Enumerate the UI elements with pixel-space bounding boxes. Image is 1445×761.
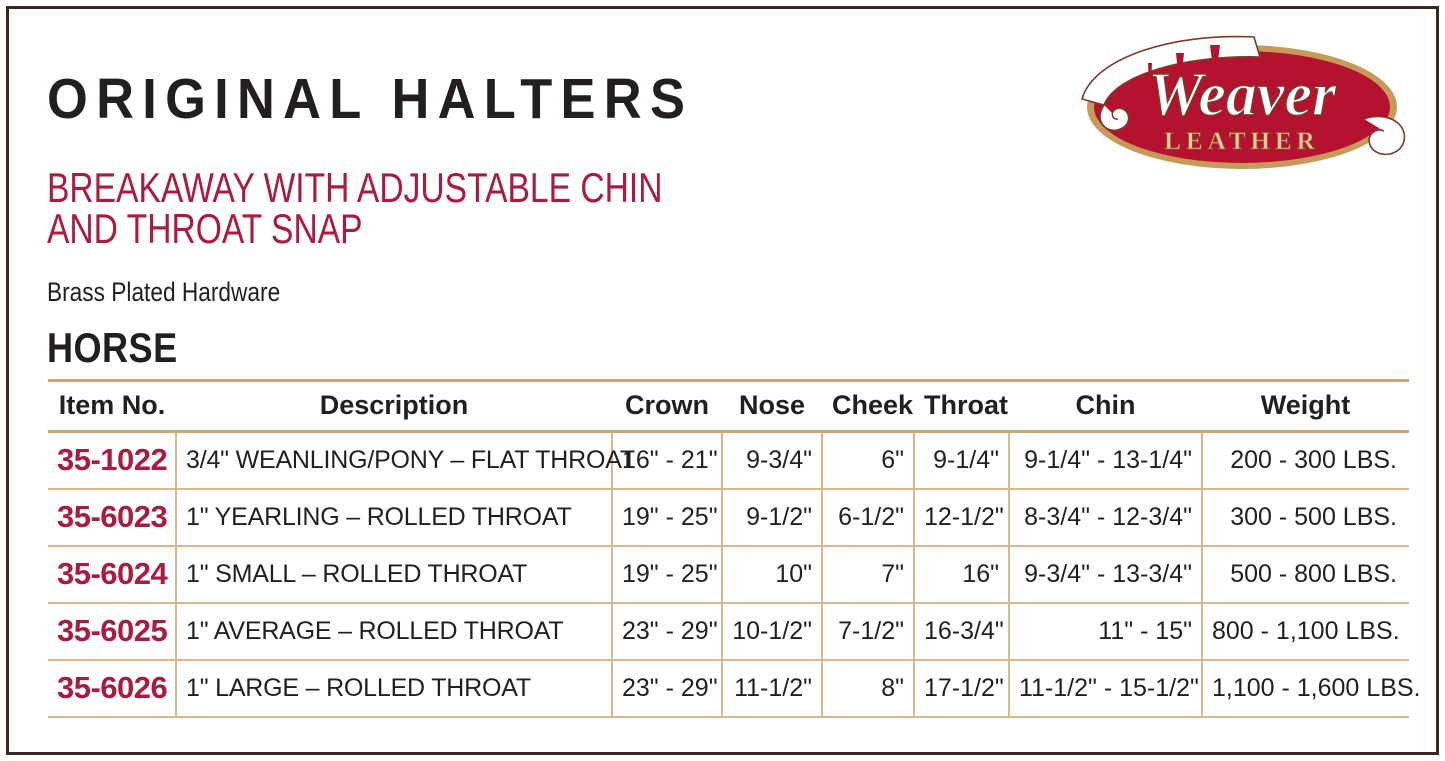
spec-table-container: Item No. Description Crown Nose Cheek Th… [48, 379, 1409, 718]
category-heading: HORSE [47, 324, 178, 372]
cell-description: 1" YEARLING – ROLLED THROAT [176, 489, 612, 546]
cell-description: 1" AVERAGE – ROLLED THROAT [176, 603, 612, 660]
cell-nose: 11-1/2" [722, 660, 822, 717]
cell-cheek: 6-1/2" [822, 489, 914, 546]
cell-nose: 9-3/4" [722, 432, 822, 489]
cell-crown: 19" - 25" [612, 546, 722, 603]
table-head: Item No. Description Crown Nose Cheek Th… [48, 381, 1409, 432]
page-inner: ORIGINAL HALTERS BREAKAWAY WITH ADJUSTAB… [9, 9, 1442, 758]
cell-chin: 11-1/2" - 15-1/2" [1009, 660, 1202, 717]
table-row: 35-6026 1" LARGE – ROLLED THROAT 23" - 2… [48, 660, 1409, 717]
cell-nose: 9-1/2" [722, 489, 822, 546]
table-row: 35-6024 1" SMALL – ROLLED THROAT 19" - 2… [48, 546, 1409, 603]
hardware-note: Brass Plated Hardware [47, 277, 280, 308]
halter-spec-table: Item No. Description Crown Nose Cheek Th… [48, 379, 1409, 718]
table-row: 35-6023 1" YEARLING – ROLLED THROAT 19" … [48, 489, 1409, 546]
cell-item-no: 35-6024 [48, 546, 176, 603]
table-header-row: Item No. Description Crown Nose Cheek Th… [48, 381, 1409, 432]
page-title: ORIGINAL HALTERS [47, 71, 693, 128]
cell-crown: 23" - 29" [612, 603, 722, 660]
column-header-item-no: Item No. [48, 381, 176, 432]
cell-item-no: 35-6025 [48, 603, 176, 660]
cell-weight: 300 - 500 LBS. [1202, 489, 1409, 546]
column-header-weight: Weight [1202, 381, 1409, 432]
cell-crown: 23" - 29" [612, 660, 722, 717]
cell-cheek: 6" [822, 432, 914, 489]
page-subtitle: BREAKAWAY WITH ADJUSTABLE CHIN AND THROA… [47, 167, 751, 249]
cell-nose: 10" [722, 546, 822, 603]
cell-chin: 9-3/4" - 13-3/4" [1009, 546, 1202, 603]
cell-crown: 19" - 25" [612, 489, 722, 546]
cell-throat: 9-1/4" [914, 432, 1009, 489]
logo-svg: Weaver LEATHER [1064, 27, 1419, 187]
logo-brand-text: Weaver [1148, 61, 1337, 129]
cell-weight: 1,100 - 1,600 LBS. [1202, 660, 1409, 717]
page-frame: ORIGINAL HALTERS BREAKAWAY WITH ADJUSTAB… [6, 6, 1439, 755]
cell-chin: 8-3/4" - 12-3/4" [1009, 489, 1202, 546]
column-header-nose: Nose [722, 381, 822, 432]
cell-description: 3/4" WEANLING/PONY – FLAT THROAT [176, 432, 612, 489]
cell-item-no: 35-6026 [48, 660, 176, 717]
cell-cheek: 7-1/2" [822, 603, 914, 660]
table-body: 35-1022 3/4" WEANLING/PONY – FLAT THROAT… [48, 432, 1409, 717]
weaver-leather-logo: Weaver LEATHER [1064, 27, 1419, 187]
cell-item-no: 35-1022 [48, 432, 176, 489]
cell-throat: 12-1/2" [914, 489, 1009, 546]
cell-weight: 500 - 800 LBS. [1202, 546, 1409, 603]
subtitle-line-1: BREAKAWAY WITH ADJUSTABLE CHIN [47, 164, 662, 211]
subtitle-line-2: AND THROAT SNAP [47, 208, 751, 249]
column-header-chin: Chin [1009, 381, 1202, 432]
cell-throat: 16" [914, 546, 1009, 603]
column-header-throat: Throat [914, 381, 1009, 432]
table-row: 35-6025 1" AVERAGE – ROLLED THROAT 23" -… [48, 603, 1409, 660]
cell-nose: 10-1/2" [722, 603, 822, 660]
cell-chin: 9-1/4" - 13-1/4" [1009, 432, 1202, 489]
cell-item-no: 35-6023 [48, 489, 176, 546]
cell-description: 1" SMALL – ROLLED THROAT [176, 546, 612, 603]
cell-weight: 800 - 1,100 LBS. [1202, 603, 1409, 660]
column-header-crown: Crown [612, 381, 722, 432]
logo-sub-brand-text: LEATHER [1164, 128, 1319, 155]
table-row: 35-1022 3/4" WEANLING/PONY – FLAT THROAT… [48, 432, 1409, 489]
cell-weight: 200 - 300 LBS. [1202, 432, 1409, 489]
column-header-description: Description [176, 381, 612, 432]
cell-description: 1" LARGE – ROLLED THROAT [176, 660, 612, 717]
catalog-page: ORIGINAL HALTERS BREAKAWAY WITH ADJUSTAB… [0, 0, 1445, 761]
cell-cheek: 8" [822, 660, 914, 717]
cell-chin: 11" - 15" [1009, 603, 1202, 660]
cell-throat: 17-1/2" [914, 660, 1009, 717]
cell-crown: 16" - 21" [612, 432, 722, 489]
cell-throat: 16-3/4" [914, 603, 1009, 660]
cell-cheek: 7" [822, 546, 914, 603]
column-header-cheek: Cheek [822, 381, 914, 432]
